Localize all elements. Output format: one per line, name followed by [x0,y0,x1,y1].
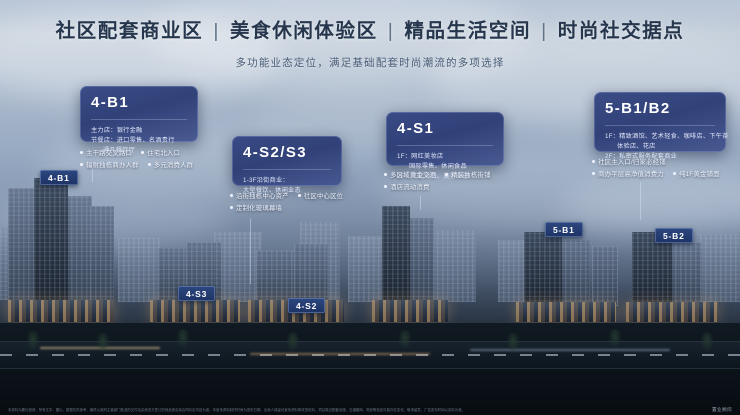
card-line: 主力店：银行金融 [91,126,187,136]
bullet-item: 酒店流动消费 [384,182,430,191]
card-code-4s1: 4-S1 [397,121,493,138]
bullet-dot-icon [445,173,448,176]
bullet-dot-icon [592,172,595,175]
bullet-list-4s2s3: 沿街独栋中心资产 社区中心区位 定制化玻璃幕墙 [230,191,360,215]
bullet-item: 定制化玻璃幕墙 [230,203,282,212]
far-building [432,230,476,302]
title-separator: | [385,20,398,42]
card-divider [397,145,493,146]
card-line: 1F：网红美妆店 [397,152,493,162]
footer-disclaimer: 本资料为要约邀请，所有文字、图片、数据仅供参考，最终以政府主管部门批准的文件及买… [8,408,704,412]
bullet-label: 沿街独栋中心资产 [236,191,289,200]
building-tag-5b2[interactable]: 5-B2 [655,228,693,243]
tower-4s1-a [382,206,410,306]
bullet-item: 社区主入口/归家必经铺 [592,157,666,166]
ground-plane [0,323,740,415]
bullet-label: 多元消费人群 [154,160,194,169]
marketing-board: 社区配套商业区 | 美食休闲体验区 | 精品生活空间 | 时尚社交据点 多功能业… [0,0,740,415]
info-card-4b1[interactable]: 4-B1 主力店：银行金融 节餐店：进口零售、名酒贵行 通凡餐饮厅 [80,86,198,142]
bullet-label: 主干路交叉路口 [86,148,132,157]
card-divider [91,119,187,120]
tower-5b1-b [560,240,590,306]
light-trail [470,349,670,351]
card-line: 体验店、花店 [605,142,715,152]
title-segment-3: 精品生活空间 [404,20,531,42]
bullet-label: 酒店流动消费 [390,182,430,191]
bullet-dot-icon [230,206,233,209]
bullet-dot-icon [592,160,595,163]
tower-4b1-main [34,178,68,306]
bullet-list-5b1b2: 社区主入口/归家必经铺 商办平层高净值消费力 纯1F黄金铺面 [592,157,738,181]
bullet-label: 辐射独栋商办人群 [86,160,139,169]
page-subtitle: 多功能业态定位，满足基础配套时尚潮流的多项选择 [0,55,740,70]
title-separator: | [538,20,551,42]
tree-decoration [700,332,714,352]
leader-line-4s2s3 [250,218,251,284]
tower-5b1-a [524,232,562,306]
bullet-item: 纯1F黄金铺面 [673,169,720,178]
building-tag-4s3[interactable]: 4-S3 [178,286,215,301]
light-trail [250,353,430,355]
title-segment-1: 社区配套商业区 [56,20,204,42]
bullet-item: 商办平层高净值消费力 [592,169,664,178]
bullet-label: 住宅北入口 [147,148,180,157]
building-tag-5b1[interactable]: 5-B1 [545,222,583,237]
bullet-item: 多区域黄金交汇 [384,170,436,179]
bullet-dot-icon [80,151,83,154]
bullet-dot-icon [80,163,83,166]
info-card-4s1[interactable]: 4-S1 1F：网红美妆店 国际零售、休闲食品 2F：文化消费、美容业态 [386,112,504,166]
main-road [0,341,740,369]
tree-decoration [286,332,300,352]
bullet-dot-icon [298,194,301,197]
tower-5b2-a [632,232,672,306]
footer: 本资料为要约邀请，所有文字、图片、数据仅供参考，最终以政府主管部门批准的文件及买… [0,407,740,413]
podium-4s3 [150,300,240,322]
bullet-item: 沿街独栋中心资产 [230,191,289,200]
footer-logo: 置业顾问 [712,407,732,413]
bullet-item: 住宅北入口 [141,148,180,157]
tower-4s1-b [408,218,434,306]
tree-decoration [398,330,412,350]
tree-decoration [176,329,190,349]
bullet-dot-icon [148,163,151,166]
tower-4b1-right [66,196,92,306]
bullet-list-4s1: 多区域黄金交汇 精装独栋街铺 酒店流动消费 [384,170,524,194]
tower-5b2-b [670,242,702,306]
bullet-label: 商办平层高净值消费力 [598,169,664,178]
building-tag-4b1[interactable]: 4-B1 [40,170,78,185]
podium-4s1 [372,300,448,322]
bullet-item: 主干路交叉路口 [80,148,132,157]
podium-5b1 [516,302,616,322]
bullet-label: 定制化玻璃幕墙 [236,203,282,212]
bullet-item: 多元消费人群 [148,160,194,169]
bullet-dot-icon [141,151,144,154]
header: 社区配套商业区 | 美食休闲体验区 | 精品生活空间 | 时尚社交据点 多功能业… [0,14,740,70]
tree-decoration [506,333,520,353]
bullet-item: 精装独栋街铺 [445,170,491,179]
card-line: 1-3F沿街商业： [243,176,331,186]
card-code-4b1: 4-B1 [91,95,187,112]
page-title: 社区配套商业区 | 美食休闲体验区 | 精品生活空间 | 时尚社交据点 [0,14,740,43]
info-card-5b1b2[interactable]: 5-B1/B2 1F：精致酒馆、艺术轻食、咖啡店、下午茶 体验店、花店 2F：私… [594,92,726,152]
bullet-label: 多区域黄金交汇 [390,170,436,179]
tower-4b1-far [90,206,114,306]
tree-decoration [608,329,622,349]
card-code-4s2s3: 4-S2/S3 [243,145,331,162]
bullet-label: 纯1F黄金铺面 [679,169,720,178]
far-building [700,234,740,302]
bullet-dot-icon [384,185,387,188]
card-divider [243,169,331,170]
bullet-item: 辐射独栋商办人群 [80,160,139,169]
tower-5b1-c [592,246,618,306]
title-segment-4: 时尚社交据点 [558,20,685,42]
building-tag-4s2[interactable]: 4-S2 [288,298,325,313]
leader-line-4s1 [420,196,421,210]
leader-line-5b1b2 [640,182,641,220]
podium-4b1 [8,300,114,322]
card-divider [605,125,715,126]
title-separator: | [210,20,223,42]
tree-decoration [96,333,110,353]
bullet-label: 社区中心区位 [304,191,344,200]
card-line: 节餐店：进口零售、名酒贵行 [91,136,187,146]
bullet-list-4b1: 主干路交叉路口 住宅北入口 辐射独栋商办人群 多元消费人群 [80,148,210,172]
info-card-4s2s3[interactable]: 4-S2/S3 1-3F沿街商业： 大型餐饮、休闲业态 [232,136,342,186]
bullet-label: 精装独栋街铺 [451,170,491,179]
podium-5b2 [626,302,718,322]
bullet-dot-icon [384,173,387,176]
card-code-5b1b2: 5-B1/B2 [605,101,715,118]
cloud-decoration [560,175,740,235]
bullet-dot-icon [230,194,233,197]
building-4s2-b [294,244,328,306]
far-building [118,238,160,302]
bullet-label: 社区主入口/归家必经铺 [598,157,666,166]
card-line: 1F：精致酒馆、艺术轻食、咖啡店、下午茶 [605,132,715,142]
bullet-dot-icon [673,172,676,175]
title-segment-2: 美食休闲体验区 [230,20,378,42]
bullet-item: 社区中心区位 [298,191,344,200]
tree-decoration [26,331,40,351]
